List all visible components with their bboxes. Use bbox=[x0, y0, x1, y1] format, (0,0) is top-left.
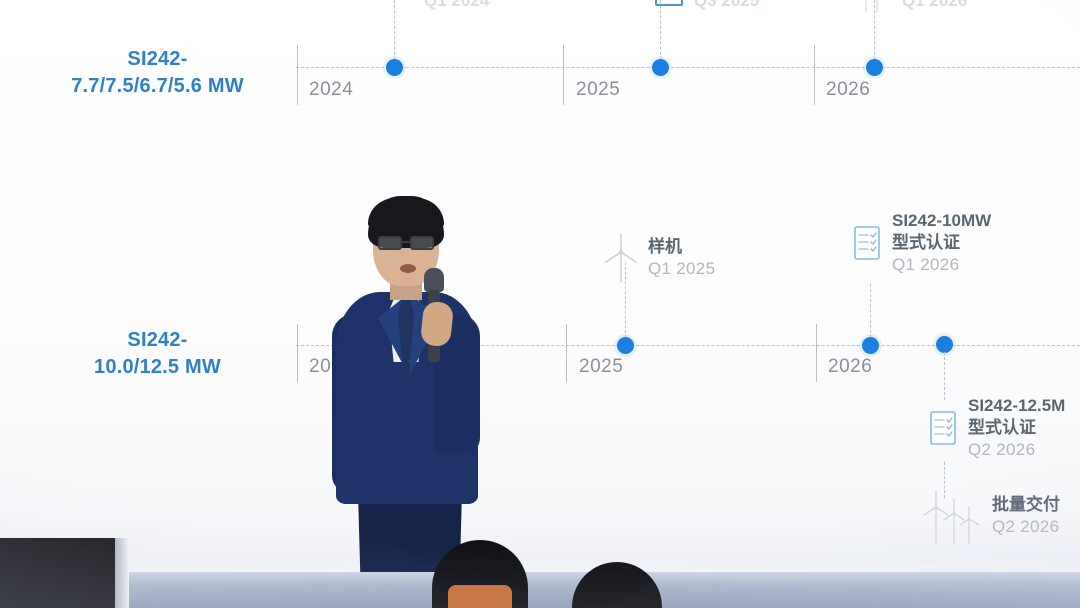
presentation-slide: SI242- 7.7/7.5/6.7/5.6 MW 2024 2025 2026… bbox=[0, 0, 1080, 608]
milestone-type-cert-125mw[interactable]: SI242-12.5M 型式认证 Q2 2026 bbox=[928, 395, 1065, 461]
timeline-dot-type-cert-10mw[interactable] bbox=[862, 337, 879, 354]
cutoff-caption-top-3: Q1 2026 bbox=[902, 0, 967, 11]
audience-collar-left bbox=[448, 585, 512, 608]
milestone-mass-delivery-date: Q2 2026 bbox=[992, 516, 1060, 538]
milestone-prototype-date: Q1 2025 bbox=[648, 258, 715, 280]
year-label-2024-top: 2024 bbox=[309, 79, 353, 101]
milestone-type-cert-10mw-product: SI242-10MW bbox=[892, 210, 991, 232]
milestone-mass-delivery-title: 批量交付 bbox=[992, 494, 1060, 516]
cutoff-icon-top-2 bbox=[655, 0, 683, 6]
year-tick-2026-bottom bbox=[816, 324, 817, 382]
series-label-bottom: SI242- 10.0/12.5 MW bbox=[30, 327, 285, 381]
milestone-type-cert-10mw-date: Q1 2026 bbox=[892, 254, 991, 276]
certificate-icon bbox=[852, 224, 882, 262]
year-label-2025-bottom: 2025 bbox=[579, 356, 623, 378]
presenter-mouth bbox=[400, 264, 416, 273]
timeline-dot-top-2[interactable] bbox=[652, 59, 669, 76]
timeline-dot-top-1[interactable] bbox=[386, 59, 403, 76]
milestone-type-cert-10mw-text: SI242-10MW 型式认证 Q1 2026 bbox=[892, 210, 991, 276]
wind-farm-icon bbox=[922, 487, 982, 545]
milestone-type-cert-10mw-title: 型式认证 bbox=[892, 232, 991, 254]
timeline-dot-type-cert-125mw[interactable] bbox=[936, 336, 953, 353]
cutoff-caption-top-2: Q3 2025 bbox=[694, 0, 759, 11]
milestone-prototype-title: 样机 bbox=[648, 236, 715, 258]
timeline-dot-top-3[interactable] bbox=[866, 59, 883, 76]
glasses-icon bbox=[410, 236, 434, 250]
year-tick-2024-top bbox=[297, 45, 298, 105]
leader-line-top-1 bbox=[394, 0, 395, 60]
leader-line-type-cert-10mw bbox=[870, 284, 871, 338]
stage-monitor-edge bbox=[115, 538, 129, 608]
milestone-type-cert-125mw-date: Q2 2026 bbox=[968, 439, 1065, 461]
series-label-top: SI242- 7.7/7.5/6.7/5.6 MW bbox=[30, 46, 285, 100]
cutoff-wind-farm-icon-top-3 bbox=[856, 0, 886, 14]
milestone-type-cert-125mw-title: 型式认证 bbox=[968, 417, 1065, 439]
stage-monitor bbox=[0, 538, 118, 608]
milestone-mass-delivery[interactable]: 批量交付 Q2 2026 bbox=[922, 487, 1060, 545]
milestone-prototype[interactable]: 样机 Q1 2025 bbox=[604, 232, 715, 284]
milestone-type-cert-125mw-text: SI242-12.5M 型式认证 Q2 2026 bbox=[968, 395, 1065, 461]
leader-line-type-cert-125mw bbox=[944, 352, 945, 400]
audience-head-right bbox=[572, 562, 662, 608]
presenter-hair-top bbox=[368, 198, 444, 228]
year-tick-2026-top bbox=[814, 45, 815, 105]
year-tick-2024-bottom bbox=[297, 324, 298, 382]
cutoff-caption-top-1: Q1 2024 bbox=[424, 0, 489, 11]
certificate-icon bbox=[928, 409, 958, 447]
year-tick-2025-bottom bbox=[566, 324, 567, 382]
year-tick-2025-top bbox=[563, 45, 564, 105]
leader-line-top-2 bbox=[660, 0, 661, 60]
year-label-2025-top: 2025 bbox=[576, 79, 620, 101]
glasses-bridge bbox=[402, 241, 410, 243]
timeline-dot-prototype[interactable] bbox=[617, 337, 634, 354]
year-label-2026-top: 2026 bbox=[826, 79, 870, 101]
microphone-icon bbox=[424, 268, 444, 292]
glasses-icon bbox=[378, 236, 402, 250]
milestone-type-cert-125mw-product: SI242-12.5M bbox=[968, 395, 1065, 417]
milestone-type-cert-10mw[interactable]: SI242-10MW 型式认证 Q1 2026 bbox=[852, 210, 991, 276]
year-label-2026-bottom: 2026 bbox=[828, 356, 872, 378]
timeline-axis-top bbox=[296, 67, 1080, 68]
stage-front-edge bbox=[0, 572, 1080, 608]
wind-turbine-icon bbox=[604, 232, 638, 284]
milestone-mass-delivery-text: 批量交付 Q2 2026 bbox=[992, 494, 1060, 538]
milestone-prototype-text: 样机 Q1 2025 bbox=[648, 236, 715, 280]
